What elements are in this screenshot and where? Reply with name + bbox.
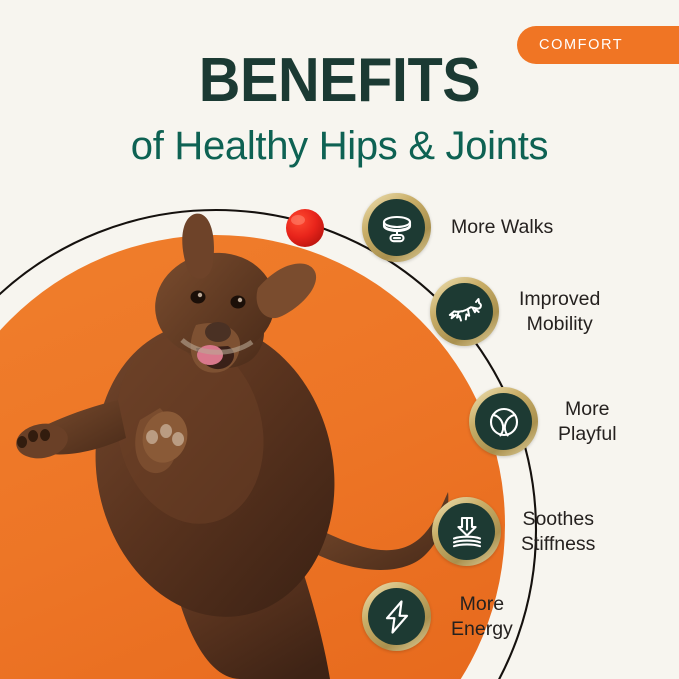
benefit-item-improved-mobility: Improved Mobility	[430, 277, 600, 346]
benefit-badge	[362, 582, 431, 651]
benefit-badge	[362, 193, 431, 262]
compression-arrow-icon	[438, 503, 495, 560]
promo-graphic: COMFORT BENEFITS of Healthy Hips & Joint…	[0, 0, 679, 679]
benefit-item-more-playful: More Playful	[469, 387, 617, 456]
title-block: BENEFITS of Healthy Hips & Joints	[0, 50, 679, 170]
benefit-label: Soothes Stiffness	[521, 507, 595, 557]
benefit-badge	[469, 387, 538, 456]
benefit-item-more-energy: More Energy	[362, 582, 513, 651]
comfort-tag: COMFORT	[517, 26, 679, 64]
benefit-item-more-walks: More Walks	[362, 193, 553, 262]
comfort-tag-label: COMFORT	[539, 37, 623, 53]
benefit-badge	[430, 277, 499, 346]
page-subtitle: of Healthy Hips & Joints	[0, 122, 679, 170]
benefit-badge	[432, 497, 501, 566]
lightning-bolt-icon	[368, 588, 425, 645]
dog-collar-icon	[368, 199, 425, 256]
benefit-label: More Energy	[451, 592, 513, 642]
benefit-label: More Playful	[558, 397, 617, 447]
benefit-label: Improved Mobility	[519, 287, 600, 337]
benefit-label: More Walks	[451, 215, 553, 240]
benefit-item-soothes-stiffness: Soothes Stiffness	[432, 497, 595, 566]
leaping-dog-icon	[436, 283, 493, 340]
tennis-ball-icon	[475, 393, 532, 450]
